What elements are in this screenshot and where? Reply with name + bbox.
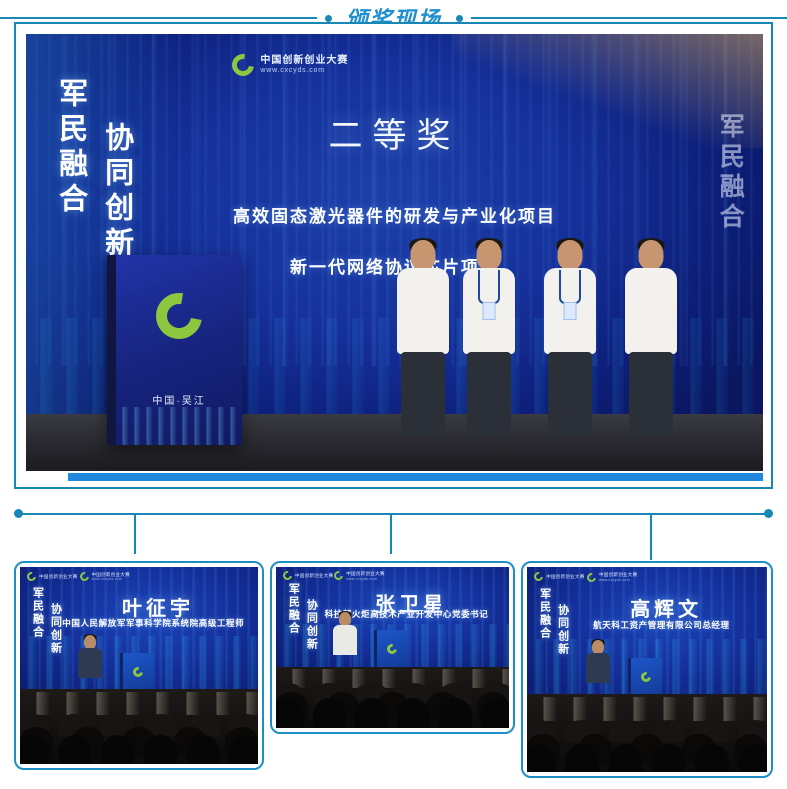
stage-brand-url: www.cxcyds.com xyxy=(260,67,348,74)
thumb-center-logo: 中国创新创业大赛 www.cxcyds.com xyxy=(334,571,384,581)
thumb-slogan-1: 军民融合 xyxy=(285,583,301,651)
thumb-center-logo: 中国创新创业大赛 www.cxcyds.com xyxy=(587,572,637,582)
stage-podium: 中国·吴江 xyxy=(107,255,242,445)
header-rule-right xyxy=(471,17,787,19)
audience-seats xyxy=(527,697,767,720)
header-dot-left-icon xyxy=(325,15,332,22)
header-rule-left xyxy=(0,17,317,19)
speaker-suit xyxy=(586,653,610,683)
thumbnail-card-1[interactable]: 中国创新创业大赛 中国创新创业大赛 www.cxcyds.com 军民融合 协同… xyxy=(14,561,264,770)
thumb-brand-url: www.cxcyds.com xyxy=(346,577,384,581)
main-photo-frame: 中国创新创业大赛 www.cxcyds.com 军民融合 协同创新 军民融合 二… xyxy=(14,22,773,489)
thumb-side-logo: 中国创新创业大赛 xyxy=(283,571,333,580)
thumb-brand-url: www.cxcyds.com xyxy=(599,578,637,582)
person-shirt xyxy=(397,268,449,354)
connector-drop-3 xyxy=(650,514,652,560)
green-c-logo-icon xyxy=(281,569,294,582)
person-shirt xyxy=(625,268,677,354)
page-root: 颁奖现场 中国创新创业大赛 www.cxcyds.com xyxy=(0,0,787,789)
thumb-slogan-1: 军民融合 xyxy=(30,587,46,655)
podium-green-c-logo-icon xyxy=(385,642,399,656)
thumb-stage-3: 中国创新创业大赛 中国创新创业大赛 www.cxcyds.com 军民融合 协同… xyxy=(527,567,767,698)
stage-project-line-1: 高效固态激光器件的研发与产业化项目 xyxy=(26,202,763,227)
connector-dot-left-icon xyxy=(14,509,23,518)
speaker-suit xyxy=(78,648,102,678)
green-c-logo-icon xyxy=(78,571,91,584)
person-trousers xyxy=(467,352,511,436)
person-badge xyxy=(563,302,576,320)
person-badge xyxy=(482,302,495,320)
green-c-logo-icon xyxy=(332,570,345,583)
thumb-brand-name: 中国创新创业大赛 xyxy=(346,571,384,576)
audience-seats xyxy=(20,692,258,714)
stage-slogan-left: 军民融合 协同创新 xyxy=(50,78,138,262)
thumb-speaker-title-1: 中国人民解放军军事科学院系统院高级工程师 xyxy=(53,617,253,629)
thumb-audience-2 xyxy=(276,667,509,728)
green-c-logo-icon xyxy=(25,570,38,583)
person-lanyard xyxy=(478,270,500,304)
connector-dot-right-icon xyxy=(764,509,773,518)
person-head xyxy=(476,240,501,270)
green-c-logo-icon xyxy=(532,570,545,583)
speaker-head xyxy=(84,635,96,649)
person-head xyxy=(638,240,663,270)
thumb-speaker-figure xyxy=(77,635,103,693)
thumb-stage-2: 中国创新创业大赛 中国创新创业大赛 www.cxcyds.com 军民融合 协同… xyxy=(276,567,509,670)
person-head xyxy=(557,240,582,270)
main-photo[interactable]: 中国创新创业大赛 www.cxcyds.com 军民融合 协同创新 军民融合 二… xyxy=(26,34,763,471)
green-c-logo-icon xyxy=(228,50,259,81)
green-c-logo-icon xyxy=(585,571,598,584)
thumb-podium xyxy=(374,630,408,670)
thumb-side-logo: 中国创新创业大赛 xyxy=(27,572,77,581)
speaker-head xyxy=(592,640,604,654)
person-trousers xyxy=(401,352,445,436)
thumbnail-card-3[interactable]: 中国创新创业大赛 中国创新创业大赛 www.cxcyds.com 军民融合 协同… xyxy=(521,561,773,778)
person-trousers xyxy=(629,352,673,436)
podium-green-c-logo-icon xyxy=(131,665,145,679)
thumb-speaker-figure xyxy=(332,612,358,670)
stage-award-title: 二等奖 xyxy=(26,108,763,157)
audience-row xyxy=(20,735,258,764)
thumb-side-logo-text: 中国创新创业大赛 xyxy=(295,573,333,578)
thumb-side-logo-text: 中国创新创业大赛 xyxy=(39,574,77,579)
thumb-audience-1 xyxy=(20,689,258,764)
awardee-person-3 xyxy=(542,240,598,440)
audience-row xyxy=(527,744,767,772)
stage-brand-logo: 中国创新创业大赛 www.cxcyds.com xyxy=(232,54,348,76)
thumb-slogan-1: 军民融合 xyxy=(537,588,553,656)
thumb-podium xyxy=(120,653,154,693)
stage-scene: 中国创新创业大赛 www.cxcyds.com 军民融合 协同创新 军民融合 二… xyxy=(26,34,763,471)
thumb-stage-1: 中国创新创业大赛 中国创新创业大赛 www.cxcyds.com 军民融合 协同… xyxy=(20,567,258,693)
podium-green-c-logo-icon xyxy=(147,284,211,348)
connector-drop-2 xyxy=(390,514,392,554)
awardee-person-1 xyxy=(395,240,451,440)
podium-caption: 中国·吴江 xyxy=(116,392,242,407)
thumb-speaker-title-3: 航天科工资产管理有限公司总经理 xyxy=(561,619,763,631)
podium-green-c-logo-icon xyxy=(639,670,653,684)
speaker-shirt xyxy=(333,625,357,655)
person-trousers xyxy=(548,352,592,436)
thumb-brand-name: 中国创新创业大赛 xyxy=(599,572,637,577)
speaker-head xyxy=(339,612,351,626)
main-photo-accent-bar xyxy=(68,473,763,481)
thumbnail-connector xyxy=(0,508,787,556)
podium-skyline-graphic xyxy=(116,407,242,445)
connector-drop-1 xyxy=(134,514,136,554)
thumbnail-card-2[interactable]: 中国创新创业大赛 中国创新创业大赛 www.cxcyds.com 军民融合 协同… xyxy=(270,561,515,734)
audience-row xyxy=(276,698,509,728)
thumb-speaker-name-3: 高辉文 xyxy=(570,593,762,622)
thumb-center-logo: 中国创新创业大赛 www.cxcyds.com xyxy=(80,572,130,582)
person-lanyard xyxy=(559,270,581,304)
thumb-podium xyxy=(628,658,662,698)
header-dot-right-icon xyxy=(456,15,463,22)
thumb-side-logo: 中国创新创业大赛 xyxy=(534,572,584,581)
thumb-speaker-figure xyxy=(585,640,611,698)
stage-brand-name: 中国创新创业大赛 xyxy=(260,56,348,67)
awardee-person-4 xyxy=(623,240,679,440)
thumb-brand-url: www.cxcyds.com xyxy=(92,577,130,581)
person-head xyxy=(410,240,435,270)
awardee-person-2 xyxy=(461,240,517,440)
thumb-side-logo-text: 中国创新创业大赛 xyxy=(546,574,584,579)
thumb-audience-3 xyxy=(527,694,767,772)
